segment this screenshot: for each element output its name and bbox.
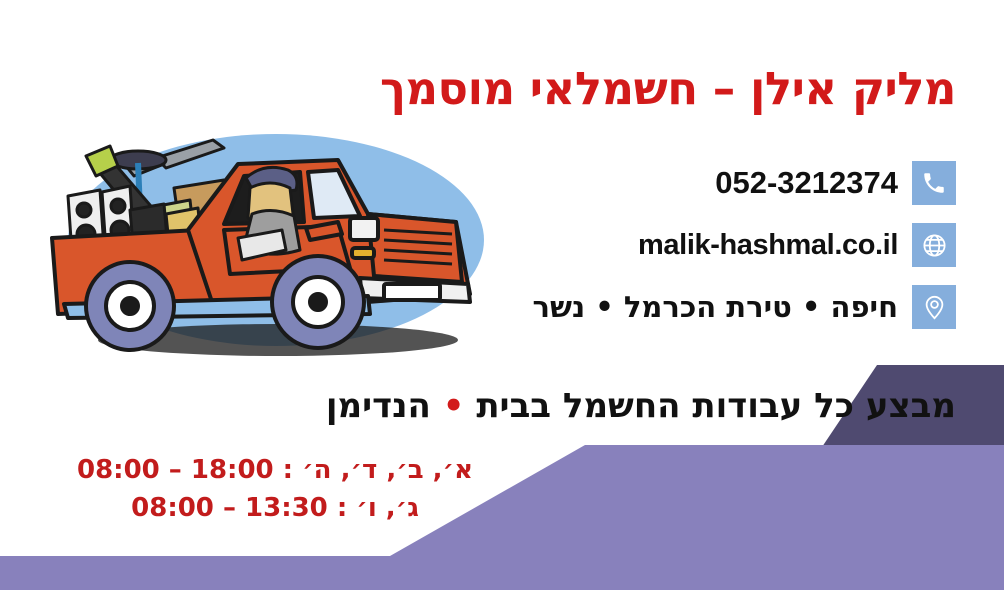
opening-hours: א׳, ב׳, ד׳, ה׳ : 18:00 – 08:00 ג׳, ו׳ : … [60,455,490,531]
phone-icon [912,161,956,205]
business-card: מליק אילן – חשמלאי מוסמך 052-3212374 mal… [0,0,1004,590]
tagline-services: מבצע כל עבודות החשמל בבית [476,386,956,426]
contact-row-location[interactable]: חיפה • טירת הכרמל • נשר [436,279,956,335]
contact-row-phone[interactable]: 052-3212374 [436,155,956,211]
website-url: malik-hashmal.co.il [436,229,898,262]
tagline: מבצע כל עבודות החשמל בבית • הנדימן [326,386,956,426]
tagline-bullet: • [443,386,465,426]
tagline-handyman: הנדימן [326,386,431,426]
page-title: מליק אילן – חשמלאי מוסמך [380,62,956,115]
service-areas: חיפה • טירת הכרמל • נשר [436,290,898,324]
globe-icon [912,223,956,267]
hours-line-short-days: ג׳, ו׳ : 13:30 – 08:00 [60,493,490,523]
contact-row-website[interactable]: malik-hashmal.co.il [436,217,956,273]
location-icon [912,285,956,329]
truck-driver [238,167,300,260]
contact-block: 052-3212374 malik-hashmal.co.il חיפה • ט… [436,155,956,341]
hours-line-weekdays: א׳, ב׳, ד׳, ה׳ : 18:00 – 08:00 [60,455,490,485]
phone-number: 052-3212374 [436,165,898,201]
